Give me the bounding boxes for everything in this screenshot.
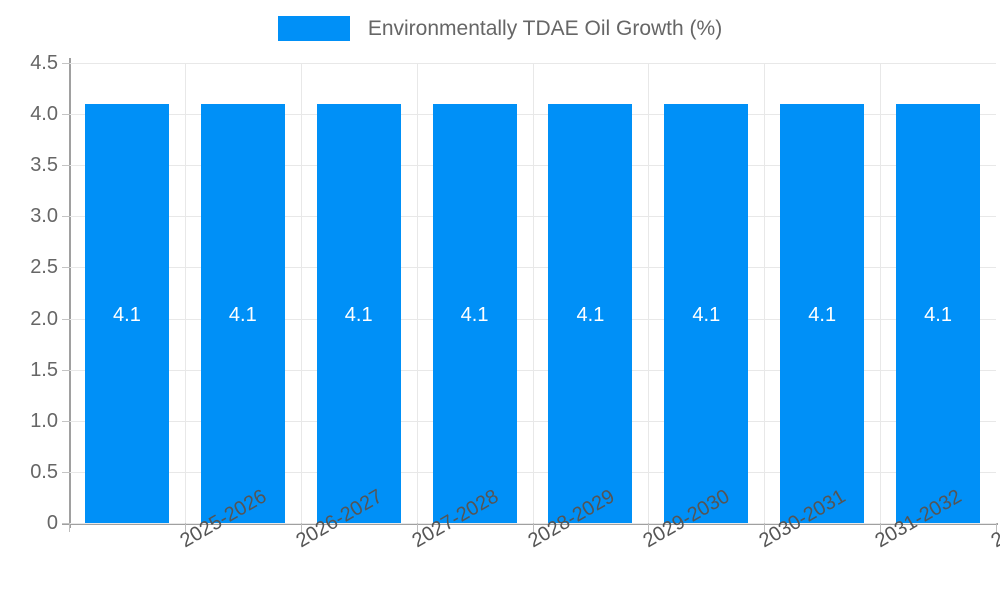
x-axis-tick-label: 2026-2027 [293,534,303,551]
x-axis-tick [185,523,186,532]
x-axis-tick [301,523,302,532]
x-axis-tick-label: 2027-2028 [409,534,419,551]
x-axis-tick [648,523,649,532]
x-axis-tick-label: 2025-2026 [177,534,187,551]
y-axis-tick [62,63,70,64]
x-axis-tick [69,523,70,532]
x-axis-tick [764,523,765,532]
y-axis-tick [62,370,70,371]
x-axis-tick-label: 2032-2033 [988,534,998,551]
y-axis-tick [62,114,70,115]
x-axis-tick-label: 2030-2031 [756,534,766,551]
x-axis-tick [996,523,997,532]
y-axis-tick [62,165,70,166]
y-axis-tick [62,267,70,268]
x-axis-tick [880,523,881,532]
y-axis-tick [62,421,70,422]
x-axis-tick-label: 2028-2029 [525,534,535,551]
x-axis-tick-label: 2029-2030 [640,534,650,551]
x-axis-tick-label: 2031-2032 [872,534,882,551]
bar-chart: Environmentally TDAE Oil Growth (%) 00.5… [0,0,1000,600]
x-axis-labels: 2025-20262026-20272027-20282028-20292029… [0,0,1000,600]
y-axis-tick [62,216,70,217]
y-axis-tick [62,319,70,320]
x-axis-tick [533,523,534,532]
y-axis-tick [62,472,70,473]
x-axis-tick [417,523,418,532]
